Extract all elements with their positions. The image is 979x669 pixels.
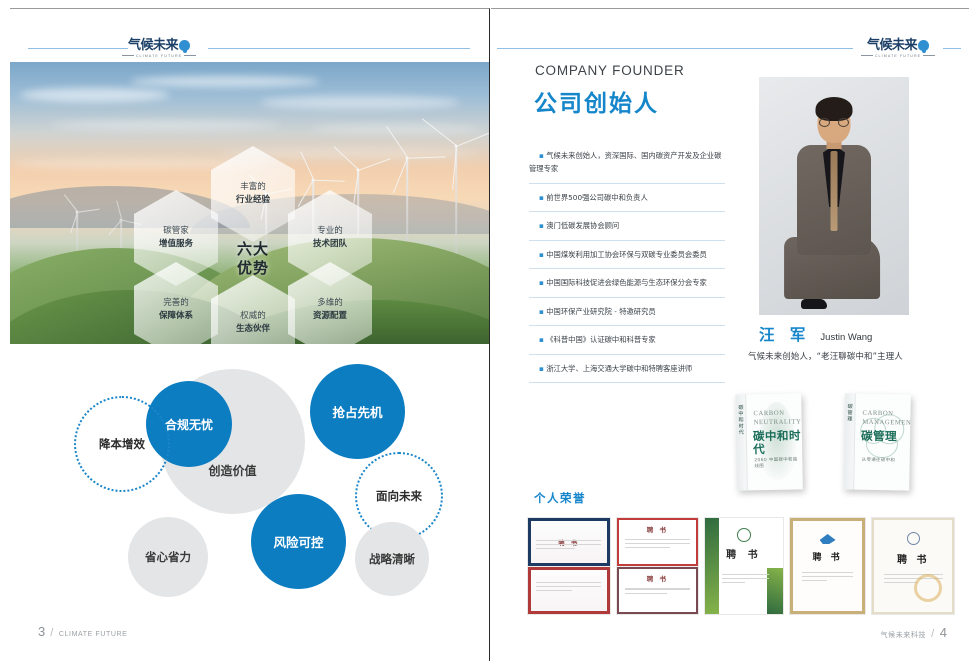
founder-name-row: 汪 军 Justin Wang xyxy=(759,323,872,345)
hex-line2: 行业经验 xyxy=(236,194,270,207)
logo-en-text: CLIMATE FUTURE xyxy=(122,54,196,58)
center-line1: 六大 xyxy=(237,240,269,259)
certificate-title: 聘 书 xyxy=(726,546,761,561)
logo-wordmark: 气候未来 xyxy=(867,39,929,52)
cloud xyxy=(20,88,170,102)
bubble-label: 合规无忧 xyxy=(165,416,213,433)
credential-text: 澳门低碳发展协会顾问 xyxy=(529,219,723,232)
credential-text: 气候未来创始人，资深国际、国内碳资产开发及企业碳管理专家 xyxy=(529,149,723,176)
credential-item: 前世界500强公司碳中和负责人 xyxy=(529,184,725,212)
lightbulb-icon xyxy=(179,40,190,51)
certificates-gallery: 聘 书 聘 书 聘 书 xyxy=(527,517,955,615)
wind-turbine-icon xyxy=(444,146,468,266)
portrait-shoe xyxy=(801,299,827,309)
book-cover-carbon-management: 碳管理 CARBON MANAGEMENT 碳管理 从零通往碳中和 xyxy=(843,393,911,490)
certificate-thumbnail: 聘 书 xyxy=(704,517,784,615)
hex-line1: 碳管家 xyxy=(163,225,189,238)
certificate-text-lines xyxy=(625,588,690,596)
bird-emblem-icon xyxy=(820,534,836,544)
book-title-cn: 碳管理 xyxy=(861,430,897,444)
right-page-footer: 气候未来科技 / 4 xyxy=(881,625,948,640)
right-page-header: 气候未来 CLIMATE FUTURE xyxy=(491,35,969,61)
brand-logo: 气候未来 CLIMATE FUTURE xyxy=(857,35,939,61)
footer-label: 气候未来科技 xyxy=(881,630,927,640)
bubble-clear-strategy: 战略清晰 xyxy=(355,522,429,596)
bubble-seize-opportunity: 抢占先机 xyxy=(310,364,405,459)
cloud xyxy=(260,96,460,109)
certificate-title: 聘 书 xyxy=(647,524,668,534)
hex-line1: 丰富的 xyxy=(240,181,266,194)
footer-slash: / xyxy=(50,627,54,639)
certificate-thumbnail: 聘 书 xyxy=(789,517,867,615)
logo-cn-text: 气候未来 xyxy=(128,39,178,52)
book-title-en: CARBON NEUTRALITY xyxy=(753,409,801,428)
hexagon-advantage-6: 碳管家 增值服务 xyxy=(134,190,218,286)
page-number: 3 xyxy=(38,624,45,639)
cloud xyxy=(310,124,480,133)
hexagon-advantage-3: 多维的 资源配置 xyxy=(288,262,372,344)
credential-item: 浙江大学、上海交通大学碳中和特聘客座讲师 xyxy=(529,355,725,383)
bubble-worry-free: 省心省力 xyxy=(128,517,208,597)
brand-logo: 气候未来 CLIMATE FUTURE xyxy=(118,35,200,61)
certificate-title: 聘 书 xyxy=(813,550,843,563)
certificate-text-lines xyxy=(722,574,769,587)
seal-icon xyxy=(907,532,920,545)
section-eyebrow: COMPANY FOUNDER xyxy=(535,63,685,78)
credential-item: 中国环保产业研究院 - 特邀研究员 xyxy=(529,298,725,326)
book-title-en-line1: CARBON xyxy=(862,410,893,418)
honors-section-title: 个人荣誉 xyxy=(534,490,586,506)
credential-item: 中国国际科技促进会绿色能源与生态环保分会专家 xyxy=(529,269,725,297)
credential-text: 中国煤炭利用加工协会环保与双碳专业委员会委员 xyxy=(529,248,723,261)
published-books: 碳中和时代 CARBON NEUTRALITY 碳中和时代 2060 中国碳中和… xyxy=(736,394,931,494)
header-rule-left xyxy=(497,48,853,49)
book-subtitle: 从零通往碳中和 xyxy=(862,457,896,464)
hex-line2: 技术团队 xyxy=(313,238,347,251)
header-rule-left xyxy=(28,48,128,49)
founder-name-en: Justin Wang xyxy=(820,332,872,343)
credential-text: 浙江大学、上海交通大学碳中和特聘客座讲师 xyxy=(529,362,723,375)
certificate-text-lines xyxy=(802,572,854,585)
bubble-cost-reduction: 降本增效 xyxy=(74,396,170,492)
book-spine-text: 碳管理 xyxy=(846,403,853,422)
hex-line2: 资源配置 xyxy=(313,310,347,323)
book-spine: 碳中和时代 xyxy=(735,394,748,490)
hex-line1: 完善的 xyxy=(163,297,189,310)
book-title-cn: 碳中和时代 xyxy=(753,429,802,456)
lightbulb-icon xyxy=(918,40,929,51)
book-cover-carbon-neutrality: 碳中和时代 CARBON NEUTRALITY 碳中和时代 2060 中国碳中和… xyxy=(735,393,803,490)
page-number: 4 xyxy=(940,625,947,640)
book-spine: 碳管理 xyxy=(843,393,856,489)
cloud xyxy=(130,76,320,87)
founder-name-cn: 汪 军 xyxy=(759,323,810,345)
credential-item: 气候未来创始人，资深国际、国内碳资产开发及企业碳管理专家 xyxy=(529,142,725,184)
glasses-icon xyxy=(819,118,849,127)
footer-label: CLIMATE FUTURE xyxy=(59,631,128,638)
bubble-label: 战略清晰 xyxy=(369,551,415,567)
cloud xyxy=(50,120,280,130)
footer-slash: / xyxy=(931,628,935,640)
credential-text: 《科普中国》认证碳中和科普专家 xyxy=(529,333,723,346)
founder-portrait-photo xyxy=(759,77,909,315)
portrait-tie xyxy=(831,151,838,231)
book-title-en-line2: MANAGEMENT xyxy=(862,419,911,427)
logo-en-text: CLIMATE FUTURE xyxy=(861,54,935,58)
hex-line2: 保障体系 xyxy=(159,310,193,323)
bubble-label: 面向未来 xyxy=(376,488,422,504)
bubble-label: 创造价值 xyxy=(208,462,256,479)
brochure-spread: 气候未来 CLIMATE FUTURE xyxy=(0,0,979,669)
credential-text: 中国环保产业研究院 - 特邀研究员 xyxy=(529,305,723,318)
credential-text: 前世界500强公司碳中和负责人 xyxy=(529,191,723,204)
left-page: 气候未来 CLIMATE FUTURE xyxy=(10,8,490,661)
header-rule-right xyxy=(208,48,470,49)
credential-item: 中国煤炭利用加工协会环保与双碳专业委员会委员 xyxy=(529,241,725,269)
credential-text: 中国国际科技促进会绿色能源与生态环保分会专家 xyxy=(529,276,723,289)
gold-seal-icon xyxy=(914,574,942,602)
logo-wordmark: 气候未来 xyxy=(128,39,190,52)
value-bubble-diagram: 创造价值 合规无忧 抢占先机 风险可控 降本增效 面向未来 省心省力 战略清晰 xyxy=(10,354,489,619)
emblem-icon xyxy=(737,528,751,542)
book-spine-text: 碳中和时代 xyxy=(737,404,745,435)
credentials-list: 气候未来创始人，资深国际、国内碳资产开发及企业碳管理专家 前世界500强公司碳中… xyxy=(529,142,725,383)
bubble-risk-control: 风险可控 xyxy=(251,494,346,589)
book-subtitle: 2060 中国碳中和路线图 xyxy=(754,456,802,469)
credential-item: 澳门低碳发展协会顾问 xyxy=(529,212,725,240)
hero-landscape-photo: 丰富的 行业经验 专业的 技术团队 多维的 资源配置 权威的 生态伙伴 完善的 xyxy=(10,62,489,344)
book-title-en-line1: CARBON xyxy=(753,410,784,418)
certificate-thumbnail: 聘 书 聘 书 xyxy=(616,517,700,615)
center-line2: 优势 xyxy=(237,259,269,278)
book-title-en: CARBON MANAGEMENT xyxy=(862,410,911,429)
header-rule-right xyxy=(943,48,961,49)
hex-line1: 专业的 xyxy=(317,225,343,238)
left-page-footer: 3 / CLIMATE FUTURE xyxy=(38,624,127,639)
hex-line2: 增值服务 xyxy=(159,238,193,251)
credential-item: 《科普中国》认证碳中和科普专家 xyxy=(529,326,725,354)
book-title-en-line2: NEUTRALITY xyxy=(754,418,802,426)
left-page-header: 气候未来 CLIMATE FUTURE xyxy=(10,35,489,61)
bubble-label: 风险可控 xyxy=(273,532,323,551)
certificate-title: 聘 书 xyxy=(897,551,929,566)
bubble-label: 降本增效 xyxy=(99,436,145,452)
hex-line1: 权威的 xyxy=(240,310,266,323)
certificate-thumbnail: 聘 书 xyxy=(871,517,955,615)
page-title: 公司创始人 xyxy=(534,84,659,118)
certificate-title: 聘 书 xyxy=(647,573,668,583)
hex-line1: 多维的 xyxy=(317,297,343,310)
bubble-label: 抢占先机 xyxy=(332,402,382,421)
certificate-text-lines xyxy=(536,582,601,595)
logo-cn-text: 气候未来 xyxy=(867,39,917,52)
six-advantages-hexagon-diagram: 丰富的 行业经验 专业的 技术团队 多维的 资源配置 权威的 生态伙伴 完善的 xyxy=(128,146,378,344)
hex-line2: 生态伙伴 xyxy=(236,323,270,336)
founder-description: 气候未来创始人，“老汪聊碳中和”主理人 xyxy=(748,350,903,362)
certificate-text-lines xyxy=(625,539,690,552)
certificate-thumbnail: 聘 书 xyxy=(527,517,611,615)
certificate-text-lines xyxy=(536,540,601,553)
right-page: 气候未来 CLIMATE FUTURE COMPANY FOUNDER 公司创始… xyxy=(491,8,969,661)
bubble-label: 省心省力 xyxy=(145,549,191,565)
